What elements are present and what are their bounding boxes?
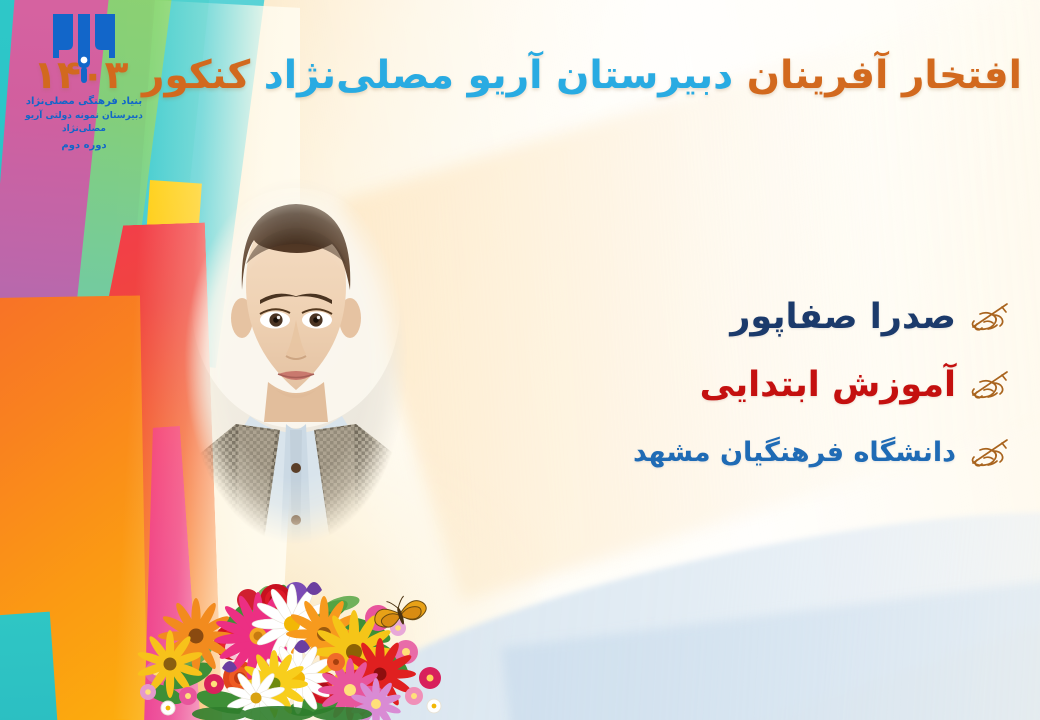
- flower-bouquet: [128, 556, 448, 720]
- student-info-block: صدرا صفاپور آموزش ابتدایی: [612, 296, 1012, 470]
- student-portrait: [176, 168, 416, 554]
- title-segment-blue: دبیرستان آریو مصلی‌نژاد: [264, 53, 733, 98]
- info-row-name: صدرا صفاپور: [612, 296, 1012, 338]
- student-university: دانشگاه فرهنگیان مشهد: [633, 437, 956, 469]
- portrait-photo: [176, 168, 416, 554]
- page-title: افتخار آفرینان دبیرستان آریو مصلی‌نژاد ک…: [250, 52, 1022, 100]
- student-major: آموزش ابتدایی: [700, 364, 956, 406]
- title-segment-orange-1: افتخار آفرینان: [747, 53, 1022, 98]
- logo-line-2: دبیرستان نمونه دولتی آریو مصلی‌نژاد: [14, 110, 154, 138]
- hand-writing-pen-icon: [968, 436, 1012, 470]
- info-row-major: آموزش ابتدایی: [612, 364, 1012, 406]
- logo-line-3: دوره دوم: [14, 138, 154, 154]
- info-row-university: دانشگاه فرهنگیان مشهد: [612, 436, 1012, 470]
- title-segment-orange-2: کنکور ۱۴۰۳: [33, 53, 250, 98]
- poster-canvas: بنیاد فرهنگی مصلی‌نژاد دبیرستان نمونه دو…: [0, 0, 1040, 720]
- hand-writing-pen-icon: [968, 368, 1012, 402]
- student-name: صدرا صفاپور: [730, 296, 956, 338]
- hand-writing-pen-icon: [968, 300, 1012, 334]
- ribbon-teal-bottom: [0, 612, 59, 720]
